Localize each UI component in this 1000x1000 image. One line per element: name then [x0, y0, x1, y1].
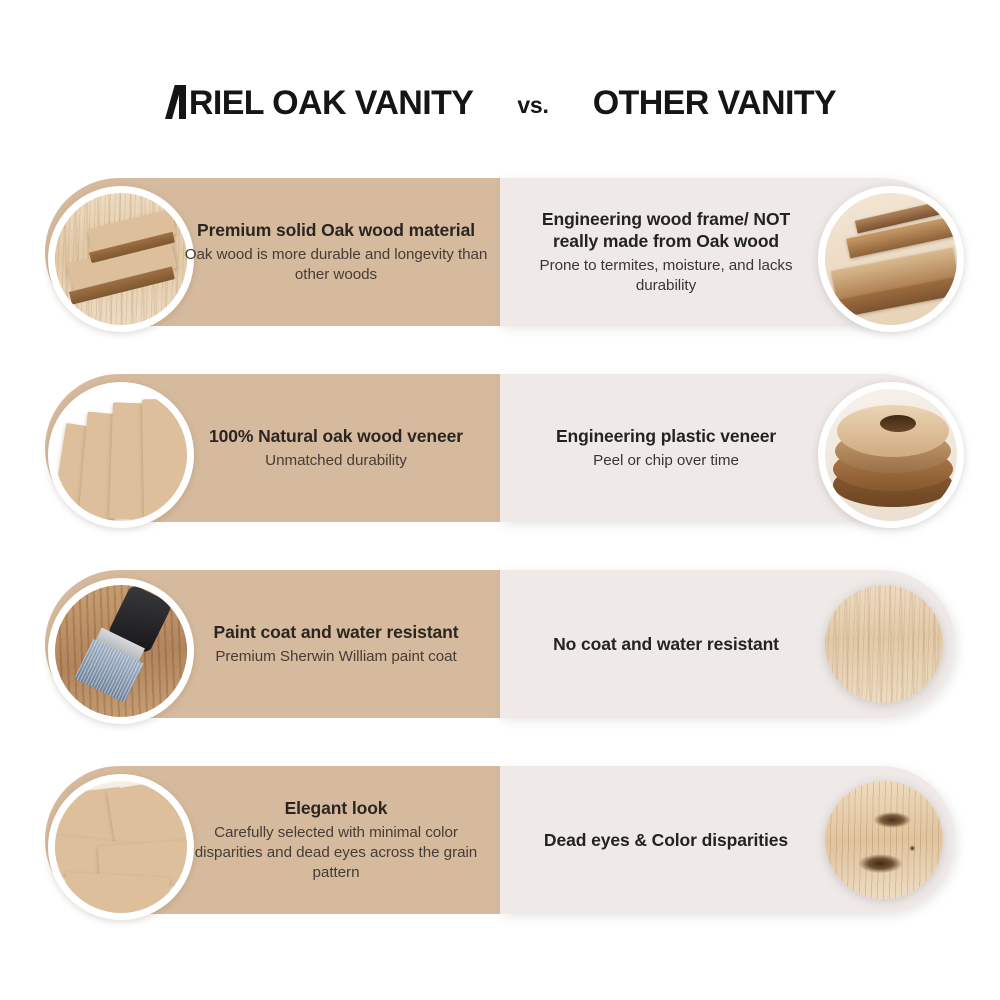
paint-brush-on-wood-photo — [48, 578, 194, 724]
bare-wood-grain-photo — [825, 585, 943, 703]
ariel-text-block: Elegant look Carefully selected with min… — [175, 766, 497, 914]
comparison-row: Elegant look Carefully selected with min… — [0, 766, 1000, 914]
stacked-oak-planks-photo — [48, 774, 194, 920]
other-text-block: Engineering wood frame/ NOT really made … — [516, 178, 816, 326]
comparison-rows: Premium solid Oak wood material Oak wood… — [0, 178, 1000, 962]
ariel-text-block: Premium solid Oak wood material Oak wood… — [175, 178, 497, 326]
ariel-headline: 100% Natural oak wood veneer — [209, 425, 463, 447]
oak-veneer-sheets-photo — [48, 382, 194, 528]
ariel-subline: Unmatched durability — [265, 451, 407, 471]
other-subline: Prone to termites, moisture, and lacks d… — [522, 256, 810, 296]
knotty-wood-grain-photo — [825, 781, 943, 899]
title-ariel-rest: RIEL OAK VANITY — [189, 84, 473, 122]
ariel-subline: Oak wood is more durable and longevity t… — [181, 245, 491, 285]
plastic-edge-banding-photo — [818, 382, 964, 528]
other-text-block: No coat and water resistant — [516, 570, 816, 718]
ariel-subline: Carefully selected with minimal color di… — [181, 823, 491, 882]
other-text-block: Engineering plastic veneer Peel or chip … — [516, 374, 816, 522]
ariel-text-block: Paint coat and water resistant Premium S… — [175, 570, 497, 718]
other-headline: No coat and water resistant — [553, 633, 779, 655]
ariel-headline: Paint coat and water resistant — [214, 621, 459, 643]
other-headline: Engineering wood frame/ NOT really made … — [522, 208, 810, 252]
title-ariel-oak-vanity: RIEL OAK VANITY — [164, 86, 473, 120]
other-text-block: Dead eyes & Color disparities — [516, 766, 816, 914]
other-headline: Dead eyes & Color disparities — [544, 829, 788, 851]
comparison-row: 100% Natural oak wood veneer Unmatched d… — [0, 374, 1000, 522]
versus-label: vs. — [517, 94, 548, 117]
ariel-headline: Elegant look — [285, 797, 388, 819]
particleboard-frame-photo — [818, 186, 964, 332]
title-other-vanity: OTHER VANITY — [593, 86, 836, 120]
ariel-logo-a-icon — [164, 86, 188, 118]
comparison-row: Paint coat and water resistant Premium S… — [0, 570, 1000, 718]
ariel-headline: Premium solid Oak wood material — [197, 219, 475, 241]
other-headline: Engineering plastic veneer — [556, 425, 776, 447]
solid-oak-boards-photo — [48, 186, 194, 332]
comparison-title-bar: RIEL OAK VANITY vs. OTHER VANITY — [0, 86, 1000, 120]
comparison-row: Premium solid Oak wood material Oak wood… — [0, 178, 1000, 326]
ariel-subline: Premium Sherwin William paint coat — [215, 647, 456, 667]
ariel-text-block: 100% Natural oak wood veneer Unmatched d… — [175, 374, 497, 522]
other-subline: Peel or chip over time — [593, 451, 739, 471]
